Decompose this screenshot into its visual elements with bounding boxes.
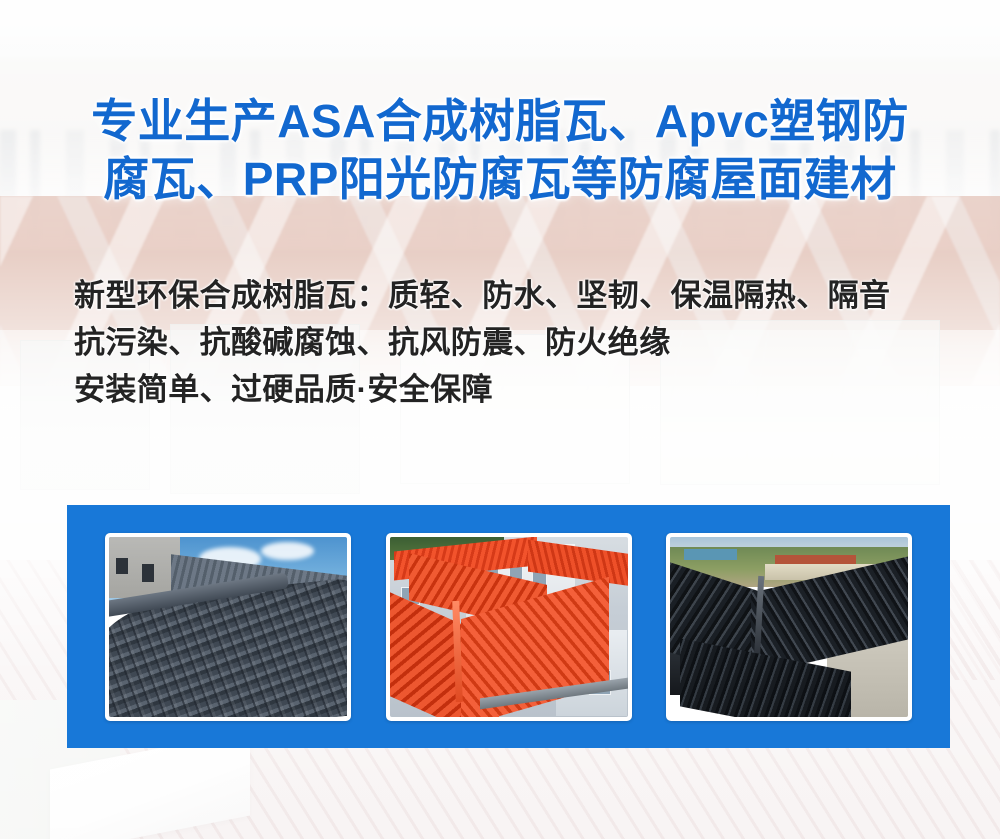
photo1-cloud <box>261 542 313 560</box>
photo1-window <box>116 558 128 574</box>
photo-image <box>670 537 908 717</box>
subcopy-line-2: 抗污染、抗酸碱腐蚀、抗风防震、防火绝缘 <box>74 319 974 366</box>
subcopy: 新型环保合成树脂瓦：质轻、防水、坚韧、保温隔热、隔音 抗污染、抗酸碱腐蚀、抗风防… <box>74 272 974 413</box>
photo3-blue-roof <box>684 549 736 560</box>
photo-black-resin-tile-roof[interactable] <box>666 533 912 721</box>
photo-orange-red-resin-tile-roof[interactable] <box>386 533 632 721</box>
photo-gallery-panel <box>67 505 950 748</box>
photo1-window <box>142 564 154 582</box>
product-banner: 专业生产ASA合成树脂瓦、Apvc塑钢防 腐瓦、PRP阳光防腐瓦等防腐屋面建材 … <box>0 0 1000 839</box>
photo-charcoal-gray-resin-tile-roof[interactable] <box>105 533 351 721</box>
headline: 专业生产ASA合成树脂瓦、Apvc塑钢防 腐瓦、PRP阳光防腐瓦等防腐屋面建材 <box>0 92 1000 208</box>
subcopy-line-1: 新型环保合成树脂瓦：质轻、防水、坚韧、保温隔热、隔音 <box>74 272 974 319</box>
photo-image <box>109 537 347 717</box>
photo3-red-roof <box>775 555 856 564</box>
headline-line-2: 腐瓦、PRP阳光防腐瓦等防腐屋面建材 <box>0 150 1000 208</box>
headline-line-1: 专业生产ASA合成树脂瓦、Apvc塑钢防 <box>0 92 1000 150</box>
photo-image <box>390 537 628 717</box>
subcopy-line-3: 安装简单、过硬品质·安全保障 <box>74 366 974 413</box>
